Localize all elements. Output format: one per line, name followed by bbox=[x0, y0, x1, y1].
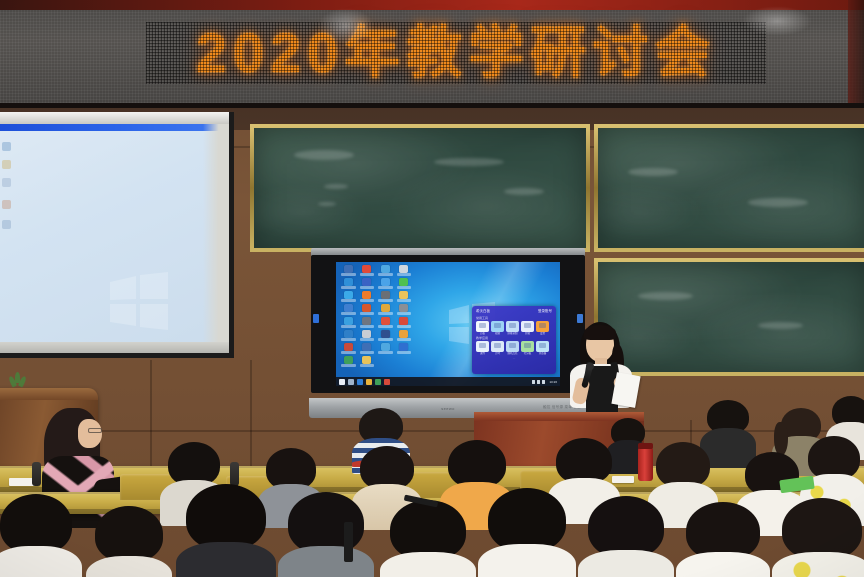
edge-icon[interactable] bbox=[357, 379, 363, 385]
desktop-icon-glyph bbox=[399, 317, 408, 325]
desktop-icon[interactable] bbox=[376, 303, 395, 316]
desktop-icon[interactable] bbox=[395, 342, 414, 355]
desktop-icon-glyph bbox=[399, 291, 408, 299]
float-panel-tile-row: 白板视频屏幕录制剪辑设置 bbox=[476, 321, 552, 335]
tile-glyph bbox=[506, 341, 519, 352]
desktop-icon[interactable] bbox=[339, 342, 358, 355]
torso bbox=[380, 552, 476, 577]
glare-reflection bbox=[742, 6, 812, 36]
float-panel-tile[interactable]: 浏览器 bbox=[536, 341, 549, 355]
chalk-smudge bbox=[628, 168, 678, 176]
chalk-smudge bbox=[758, 322, 803, 329]
tile-glyph bbox=[476, 341, 489, 352]
desktop-icon-glyph bbox=[344, 356, 353, 364]
led-banner-text: 2020年教学研讨会 bbox=[146, 22, 766, 84]
desktop-icon-label bbox=[397, 325, 412, 328]
desktop-icon-glyph bbox=[344, 291, 353, 299]
desktop-icon[interactable] bbox=[376, 290, 395, 303]
desktop-icon-label bbox=[397, 273, 412, 276]
ime-icon[interactable] bbox=[542, 380, 545, 384]
projected-icon bbox=[2, 200, 11, 209]
wall-seam bbox=[150, 360, 152, 470]
printed-papers bbox=[611, 372, 640, 408]
audience-member-front bbox=[86, 506, 172, 577]
tile-label: 随机点名 bbox=[506, 353, 519, 356]
projected-icon bbox=[2, 142, 11, 151]
float-panel-sections: 常用工具白板视频屏幕录制剪辑设置教学应用课件计时随机点名打分板浏览器 bbox=[476, 316, 552, 355]
desktop-icon-glyph bbox=[344, 330, 353, 338]
desktop-icon[interactable] bbox=[395, 316, 414, 329]
desktop-icon-glyph bbox=[344, 343, 353, 351]
float-panel-account[interactable]: 登录账号 bbox=[538, 309, 552, 314]
tile-label: 屏幕录制 bbox=[506, 333, 519, 336]
desktop-icon-grid[interactable] bbox=[339, 264, 413, 370]
audience-member-front bbox=[278, 492, 374, 577]
tile-label: 白板 bbox=[476, 333, 489, 336]
tile-glyph bbox=[476, 321, 489, 332]
desktop-icon-label bbox=[360, 338, 375, 341]
desktop-icon-glyph bbox=[362, 330, 371, 338]
desktop-icon-label bbox=[341, 325, 356, 328]
tile-label: 设置 bbox=[536, 333, 549, 336]
led-frame-top bbox=[0, 0, 864, 10]
mail-icon[interactable] bbox=[384, 379, 390, 385]
tile-glyph bbox=[521, 321, 534, 332]
windows-taskbar[interactable]: 10:26 bbox=[336, 377, 560, 386]
float-panel-tile[interactable]: 视频 bbox=[491, 321, 504, 335]
chalk-smudge bbox=[504, 188, 544, 195]
torso bbox=[278, 546, 374, 577]
audience-member-front bbox=[0, 494, 82, 577]
head bbox=[448, 440, 506, 488]
chalkboard-center bbox=[250, 124, 590, 252]
screen-edge-shadow bbox=[203, 124, 229, 358]
desktop-icon-glyph bbox=[362, 278, 371, 286]
network-icon[interactable] bbox=[532, 380, 535, 384]
volume-icon[interactable] bbox=[537, 380, 540, 384]
float-panel-tile[interactable]: 打分板 bbox=[521, 341, 534, 355]
podium-top bbox=[0, 388, 98, 400]
torso bbox=[86, 556, 172, 577]
desktop-icon-glyph bbox=[381, 317, 390, 325]
tile-label: 课件 bbox=[476, 353, 489, 356]
float-panel-section-label: 教学应用 bbox=[476, 336, 552, 340]
desktop-icon-glyph bbox=[399, 343, 408, 351]
float-panel-page-indicator: · · bbox=[476, 356, 552, 360]
desktop-icon[interactable] bbox=[358, 329, 377, 342]
power-led-icon bbox=[313, 314, 319, 323]
chalk-smudge bbox=[748, 198, 808, 207]
desktop-icon-label bbox=[341, 273, 356, 276]
float-panel-tile-row: 课件计时随机点名打分板浏览器 bbox=[476, 341, 552, 355]
desktop-icon[interactable] bbox=[376, 342, 395, 355]
torso bbox=[578, 550, 674, 577]
head bbox=[588, 496, 664, 558]
tile-label: 视频 bbox=[491, 333, 504, 336]
store-icon[interactable] bbox=[375, 379, 381, 385]
desktop-icon-glyph bbox=[381, 291, 390, 299]
desktop-icon-glyph bbox=[344, 304, 353, 312]
desktop-icon-glyph bbox=[399, 330, 408, 338]
torso bbox=[0, 546, 82, 577]
float-panel-tile[interactable]: 白板 bbox=[476, 321, 489, 335]
desktop-icon-label bbox=[360, 325, 375, 328]
desktop-icon[interactable] bbox=[376, 316, 395, 329]
head bbox=[186, 484, 266, 550]
search-icon[interactable] bbox=[348, 379, 354, 385]
tile-glyph bbox=[491, 321, 504, 332]
tile-label: 浏览器 bbox=[536, 353, 549, 356]
screen-blue-band bbox=[0, 124, 229, 131]
tile-label: 打分板 bbox=[521, 353, 534, 356]
tile-label: 计时 bbox=[491, 353, 504, 356]
float-panel-tile[interactable]: 屏幕录制 bbox=[506, 321, 519, 335]
desktop-icon[interactable] bbox=[358, 264, 377, 277]
desktop-icon-glyph bbox=[399, 304, 408, 312]
torso bbox=[478, 544, 576, 577]
chair-arm bbox=[32, 462, 41, 486]
desktop-icon-label bbox=[341, 338, 356, 341]
head bbox=[782, 498, 862, 560]
desktop-icon[interactable] bbox=[395, 329, 414, 342]
torso bbox=[676, 552, 770, 577]
whiteboard-float-panel[interactable]: 希沃白板 登录账号 常用工具白板视频屏幕录制剪辑设置教学应用课件计时随机点名打分… bbox=[472, 306, 556, 374]
desktop-icon-glyph bbox=[362, 291, 371, 299]
tile-glyph bbox=[506, 321, 519, 332]
chalk-smudge bbox=[294, 150, 354, 160]
desktop-icon[interactable] bbox=[339, 355, 358, 368]
head bbox=[390, 500, 466, 560]
head bbox=[488, 488, 566, 552]
desktop-icon-label bbox=[360, 364, 375, 367]
desktop-icon-glyph bbox=[362, 356, 371, 364]
desktop-icon-label bbox=[397, 338, 412, 341]
desktop-icon-glyph bbox=[344, 278, 353, 286]
desktop-icon[interactable] bbox=[339, 264, 358, 277]
desktop-icon-label bbox=[378, 351, 393, 354]
face bbox=[78, 419, 102, 448]
interactive-flat-panel[interactable]: 希沃白板 登录账号 常用工具白板视频屏幕录制剪辑设置教学应用课件计时随机点名打分… bbox=[311, 248, 585, 418]
projection-screen bbox=[0, 112, 234, 358]
desktop-icon-label bbox=[397, 351, 412, 354]
desktop-icon-glyph bbox=[381, 304, 390, 312]
desktop-icon-glyph bbox=[362, 265, 371, 273]
desktop-icon-glyph bbox=[381, 330, 390, 338]
desktop-icon-glyph bbox=[381, 278, 390, 286]
led-frame-right bbox=[848, 0, 864, 108]
audience-member-front bbox=[478, 488, 576, 577]
desktop-icon-label bbox=[378, 273, 393, 276]
tile-glyph bbox=[536, 341, 549, 352]
desktop-icon-label bbox=[360, 299, 375, 302]
desktop-icon-label bbox=[360, 286, 375, 289]
desktop-icon-glyph bbox=[362, 304, 371, 312]
audience-member-front bbox=[380, 500, 476, 577]
desktop-icon-glyph bbox=[399, 278, 408, 286]
desktop-icon[interactable] bbox=[395, 290, 414, 303]
float-panel-header: 希沃白板 登录账号 bbox=[476, 309, 552, 314]
desktop-icon-label bbox=[341, 312, 356, 315]
wall-seam bbox=[250, 360, 252, 470]
tile-glyph bbox=[521, 341, 534, 352]
hair-ponytail bbox=[774, 422, 788, 456]
desktop-icon-glyph bbox=[344, 265, 353, 273]
tile-glyph bbox=[491, 341, 504, 352]
chair-arm bbox=[230, 462, 239, 486]
tile-glyph bbox=[536, 321, 549, 332]
desktop-icon-label bbox=[341, 299, 356, 302]
desktop-icon-glyph bbox=[362, 317, 371, 325]
desktop-icon[interactable] bbox=[339, 316, 358, 329]
desktop-icon-label bbox=[360, 273, 375, 276]
desktop-icon-label bbox=[397, 299, 412, 302]
desktop-icon-label bbox=[341, 286, 356, 289]
explorer-icon[interactable] bbox=[366, 379, 372, 385]
chalk-smudge bbox=[324, 184, 348, 189]
screen-top-rail bbox=[0, 112, 229, 124]
desktop-icon[interactable] bbox=[358, 355, 377, 368]
desktop-icon-glyph bbox=[381, 265, 390, 273]
desktop-icon-label bbox=[341, 364, 356, 367]
desktop-icon[interactable] bbox=[376, 277, 395, 290]
tile-label: 剪辑 bbox=[521, 333, 534, 336]
desktop-icon-glyph bbox=[344, 317, 353, 325]
float-panel-tile[interactable]: 课件 bbox=[476, 341, 489, 355]
desktop-icon[interactable] bbox=[395, 303, 414, 316]
desktop-icon[interactable] bbox=[358, 303, 377, 316]
head bbox=[0, 494, 72, 554]
chalk-smudge bbox=[318, 202, 336, 206]
panel-brand-label: seewo bbox=[441, 406, 455, 411]
desktop-icon-label bbox=[378, 312, 393, 315]
desktop-icon[interactable] bbox=[358, 277, 377, 290]
desktop-icon[interactable] bbox=[358, 316, 377, 329]
desktop-icon[interactable] bbox=[339, 277, 358, 290]
desktop-icon[interactable] bbox=[358, 342, 377, 355]
desktop-icon-label bbox=[397, 312, 412, 315]
projected-icon bbox=[2, 160, 11, 169]
desktop-icon[interactable] bbox=[339, 290, 358, 303]
desktop-icon-label bbox=[360, 312, 375, 315]
torso bbox=[176, 542, 276, 577]
projected-icon bbox=[2, 220, 11, 229]
chalk-smudge bbox=[434, 158, 504, 166]
taskbar-clock: 10:26 bbox=[549, 380, 557, 384]
audience-member-front bbox=[676, 502, 770, 577]
chalk-smudge bbox=[638, 292, 693, 300]
desktop-icon[interactable] bbox=[376, 264, 395, 277]
led-banner: 2020年教学研讨会 bbox=[0, 0, 864, 108]
desktop-icon[interactable] bbox=[339, 303, 358, 316]
desktop-icon-glyph bbox=[399, 265, 408, 273]
float-panel-tile[interactable]: 剪辑 bbox=[521, 321, 534, 335]
lecture-hall-photo: 2020年教学研讨会 bbox=[0, 0, 864, 577]
screen-bottom-rail bbox=[0, 342, 229, 353]
float-panel-tile[interactable]: 设置 bbox=[536, 321, 549, 335]
windows-desktop[interactable]: 希沃白板 登录账号 常用工具白板视频屏幕录制剪辑设置教学应用课件计时随机点名打分… bbox=[336, 262, 560, 386]
desktop-icon[interactable] bbox=[339, 329, 358, 342]
desktop-icon-label bbox=[378, 299, 393, 302]
float-panel-title: 希沃白板 bbox=[476, 309, 490, 314]
float-panel-section-label: 常用工具 bbox=[476, 316, 552, 320]
desktop-icon-label bbox=[378, 338, 393, 341]
audience-member-front bbox=[772, 498, 864, 577]
float-panel-tile[interactable]: 计时 bbox=[491, 341, 504, 355]
desktop-icon-label bbox=[378, 286, 393, 289]
desktop-icon[interactable] bbox=[358, 290, 377, 303]
glare-reflection bbox=[318, 8, 374, 44]
desktop-icon[interactable] bbox=[376, 329, 395, 342]
float-panel-tile[interactable]: 随机点名 bbox=[506, 341, 519, 355]
projected-icon bbox=[2, 178, 11, 187]
desktop-icon-glyph bbox=[381, 343, 390, 351]
torso bbox=[772, 552, 864, 577]
chalkboard-right-upper bbox=[594, 124, 864, 252]
desktop-icon-label bbox=[341, 351, 356, 354]
audience-member-front bbox=[176, 484, 276, 577]
head bbox=[95, 506, 163, 562]
glasses-icon bbox=[88, 428, 102, 433]
desktop-icon[interactable] bbox=[395, 264, 414, 277]
desktop-icon-glyph bbox=[362, 343, 371, 351]
windows-logo-watermark bbox=[108, 272, 170, 330]
desktop-icon-label bbox=[360, 351, 375, 354]
system-tray[interactable]: 10:26 bbox=[532, 380, 557, 384]
audience-member-front bbox=[578, 496, 674, 577]
desktop-icon-label bbox=[378, 325, 393, 328]
presenter-fringe bbox=[584, 325, 616, 340]
bag-strap bbox=[344, 522, 353, 562]
desktop-icon-label bbox=[397, 286, 412, 289]
desktop-icon[interactable] bbox=[395, 277, 414, 290]
start-icon[interactable] bbox=[339, 379, 345, 385]
